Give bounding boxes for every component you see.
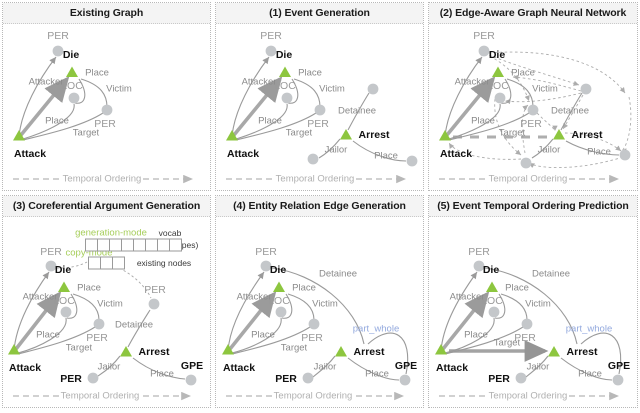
panel-canvas: PER Die LOC PER Attack Arrest Attacker P… xyxy=(216,23,423,190)
node-event xyxy=(335,346,347,357)
panel-canvas: PER Die LOC PER Attack Arrest PER GPE pa… xyxy=(216,216,423,407)
node-label-per: PER xyxy=(260,30,282,42)
edge-label-place-3: Place xyxy=(365,369,389,380)
node-label-die: Die xyxy=(55,264,71,276)
node-entity xyxy=(309,319,320,330)
panel-entity-relation-edge-generation: (4) Entity Relation Edge Generation xyxy=(215,195,424,408)
panel-title: Existing Graph xyxy=(70,7,143,19)
relation-label-part-whole: part_whole xyxy=(353,324,399,335)
edge-label-target: Target xyxy=(73,128,99,139)
edge-label-victim: Victim xyxy=(525,299,551,310)
node-label-die: Die xyxy=(276,49,292,61)
node-label-die: Die xyxy=(489,49,505,61)
edge-label-attacker: Attacker xyxy=(29,77,64,88)
node-label-attack: Attack xyxy=(9,362,41,374)
edge-label-target: Target xyxy=(281,343,307,354)
panel-title: (3) Coreferential Argument Generation xyxy=(13,200,200,212)
node-entity xyxy=(53,46,64,57)
edge-label-target: Target xyxy=(494,338,520,349)
node-label-per4: PER xyxy=(488,373,510,385)
node-event xyxy=(279,67,291,78)
node-label-loc: LOC xyxy=(481,295,503,307)
edge-label-detainee: Detainee xyxy=(338,106,376,117)
edge-label-victim: Victim xyxy=(312,299,338,310)
node-entity xyxy=(149,299,160,310)
edge-label-place-3: Place xyxy=(150,369,174,380)
node-entity xyxy=(516,373,527,384)
edge-label-place-2: Place xyxy=(464,330,488,341)
edge-label-attacker: Attacker xyxy=(450,292,485,303)
panel-coreferential-argument-generation: (3) Coreferential Argument Generation xyxy=(2,195,211,408)
node-entity xyxy=(88,373,99,384)
panel-title: (2) Edge-Aware Graph Neural Network xyxy=(440,7,627,19)
node-label-attack: Attack xyxy=(436,362,468,374)
edge-label-place-2: Place xyxy=(36,330,60,341)
edge-label-attacker: Attacker xyxy=(237,292,272,303)
panel-event-temporal-ordering-prediction: (5) Event Temporal Ordering Prediction xyxy=(428,195,638,408)
edge-label-place-3: Place xyxy=(578,369,602,380)
generation-mode-label: generation-mode xyxy=(75,228,147,239)
edge-label-place: Place xyxy=(298,68,322,79)
node-entity xyxy=(69,93,80,104)
node-entity xyxy=(613,375,624,386)
node-entity xyxy=(521,158,532,169)
node-label-attack: Attack xyxy=(14,148,46,160)
panel-event-generation: (1) Event Generation xyxy=(215,2,424,191)
node-entity xyxy=(282,93,293,104)
panel-title: (4) Entity Relation Edge Generation xyxy=(233,200,406,212)
vocab-cells xyxy=(85,239,181,252)
node-event xyxy=(553,129,565,140)
panel-canvas: PER Die LOC PER Attack Arrest Attacker P… xyxy=(429,23,637,190)
edge-label-jailor: Jailor xyxy=(98,362,121,373)
node-label-arrest: Arrest xyxy=(567,346,598,358)
node-entity xyxy=(266,46,277,57)
panel-canvas: generation-mode copy-mode vocab (entity … xyxy=(3,216,210,407)
edge-label-jailor: Jailor xyxy=(538,145,561,156)
node-label-per: PER xyxy=(468,246,490,258)
node-entity xyxy=(276,307,287,318)
node-label-gpe: GPE xyxy=(395,360,417,372)
node-entity xyxy=(186,375,197,386)
edge-label-target: Target xyxy=(286,128,312,139)
edge-label-victim: Victim xyxy=(532,84,558,95)
node-entity xyxy=(489,307,500,318)
edge-label-place: Place xyxy=(77,283,101,294)
panel-canvas: PER Die LOC PER Attack Attacker Place Vi… xyxy=(3,23,210,190)
node-event xyxy=(58,282,70,293)
vocab-label: vocab xyxy=(159,228,182,238)
node-event xyxy=(66,67,78,78)
edge-label-detainee: Detainee xyxy=(319,269,357,280)
edge-label-target: Target xyxy=(66,343,92,354)
node-label-per: PER xyxy=(255,246,277,258)
panel-title: (5) Event Temporal Ordering Prediction xyxy=(437,200,628,212)
edge-label-place-2: Place xyxy=(251,330,275,341)
node-label-arrest: Arrest xyxy=(354,346,385,358)
edge-label-place: Place xyxy=(505,283,529,294)
node-label-loc: LOC xyxy=(61,80,83,92)
edge-label-place: Place xyxy=(292,283,316,294)
node-label-per4: PER xyxy=(60,373,82,385)
temporal-ordering-label: Temporal Ordering xyxy=(489,391,568,402)
node-label-arrest: Arrest xyxy=(572,129,603,141)
vocab-cell xyxy=(169,239,182,252)
temporal-ordering-label: Temporal Ordering xyxy=(63,174,142,185)
node-entity xyxy=(308,154,319,165)
node-label-loc: LOC xyxy=(487,80,509,92)
panel-edge-aware-gnn: (2) Edge-Aware Graph Neural Network xyxy=(428,2,638,191)
node-label-per3: PER xyxy=(144,284,166,296)
temporal-ordering-label: Temporal Ordering xyxy=(489,174,568,185)
node-entity xyxy=(102,105,113,116)
node-entity xyxy=(522,319,533,330)
node-event xyxy=(273,282,285,293)
figure-grid: Existing Graph xyxy=(0,0,640,410)
node-label-per4: PER xyxy=(275,373,297,385)
edge-label-attacker: Attacker xyxy=(23,292,58,303)
edge-label-place-2: Place xyxy=(471,116,495,127)
temporal-ordering-label: Temporal Ordering xyxy=(61,391,140,402)
panel-header: (5) Event Temporal Ordering Prediction xyxy=(429,196,637,217)
node-label-arrest: Arrest xyxy=(359,129,390,141)
temporal-ordering-label: Temporal Ordering xyxy=(276,174,355,185)
edge-label-victim: Victim xyxy=(319,84,345,95)
panel-title: (1) Event Generation xyxy=(269,7,370,19)
node-label-die: Die xyxy=(63,49,79,61)
node-label-per: PER xyxy=(47,30,69,42)
node-entity xyxy=(303,373,314,384)
panel-header: (3) Coreferential Argument Generation xyxy=(3,196,210,217)
node-label-arrest: Arrest xyxy=(139,346,170,358)
node-label-attack: Attack xyxy=(440,148,472,160)
node-label-per: PER xyxy=(40,246,62,258)
panel-existing-graph: Existing Graph xyxy=(2,2,211,191)
node-entity xyxy=(620,150,631,161)
copy-cell xyxy=(112,257,125,270)
node-label-loc: LOC xyxy=(274,80,296,92)
node-event xyxy=(486,282,498,293)
panel-header: (1) Event Generation xyxy=(216,3,423,24)
node-entity xyxy=(94,319,105,330)
edge-label-place: Place xyxy=(511,68,535,79)
node-entity xyxy=(581,84,592,95)
temporal-ordering-label: Temporal Ordering xyxy=(274,391,353,402)
edge-label-victim: Victim xyxy=(106,84,132,95)
relation-label-part-whole: part_whole xyxy=(566,324,612,335)
node-entity xyxy=(495,93,506,104)
node-entity xyxy=(400,375,411,386)
edge-label-detainee: Detainee xyxy=(115,320,153,331)
existing-nodes-label: existing nodes xyxy=(137,258,191,268)
edge-label-victim: Victim xyxy=(97,299,123,310)
edge-label-jailor: Jailor xyxy=(314,362,337,373)
panel-header: Existing Graph xyxy=(3,3,210,24)
node-label-die: Die xyxy=(270,264,286,276)
node-entity xyxy=(528,105,539,116)
node-entity xyxy=(315,105,326,116)
node-label-attack: Attack xyxy=(227,148,259,160)
node-label-gpe: GPE xyxy=(181,360,203,372)
node-entity xyxy=(61,307,72,318)
panel-header: (2) Edge-Aware Graph Neural Network xyxy=(429,3,637,24)
node-event xyxy=(548,346,560,357)
node-event xyxy=(340,129,352,140)
edge-label-detainee: Detainee xyxy=(532,269,570,280)
edge-label-detainee: Detainee xyxy=(551,106,589,117)
edge-label-place-3: Place xyxy=(587,147,611,158)
copy-cells xyxy=(88,257,124,270)
node-label-die: Die xyxy=(483,264,499,276)
node-label-gpe: GPE xyxy=(608,360,630,372)
edge-label-place-2: Place xyxy=(258,116,282,127)
node-entity xyxy=(368,84,379,95)
node-entity xyxy=(479,46,490,57)
edge-label-place: Place xyxy=(85,68,109,79)
edge-label-attacker: Attacker xyxy=(455,77,490,88)
node-event xyxy=(120,346,132,357)
node-label-attack: Attack xyxy=(223,362,255,374)
node-event xyxy=(492,67,504,78)
edge-label-place-2: Place xyxy=(45,116,69,127)
node-label-loc: LOC xyxy=(268,295,290,307)
edge-label-jailor: Jailor xyxy=(527,362,550,373)
edge-label-place-3: Place xyxy=(374,151,398,162)
node-label-per: PER xyxy=(473,30,495,42)
edge-label-jailor: Jailor xyxy=(325,145,348,156)
edge-label-attacker: Attacker xyxy=(242,77,277,88)
panel-canvas: PER Die LOC PER Attack Arrest PER GPE pa… xyxy=(429,216,637,407)
panel-header: (4) Entity Relation Edge Generation xyxy=(216,196,423,217)
node-entity xyxy=(407,156,418,167)
edge-label-target: Target xyxy=(499,128,525,139)
